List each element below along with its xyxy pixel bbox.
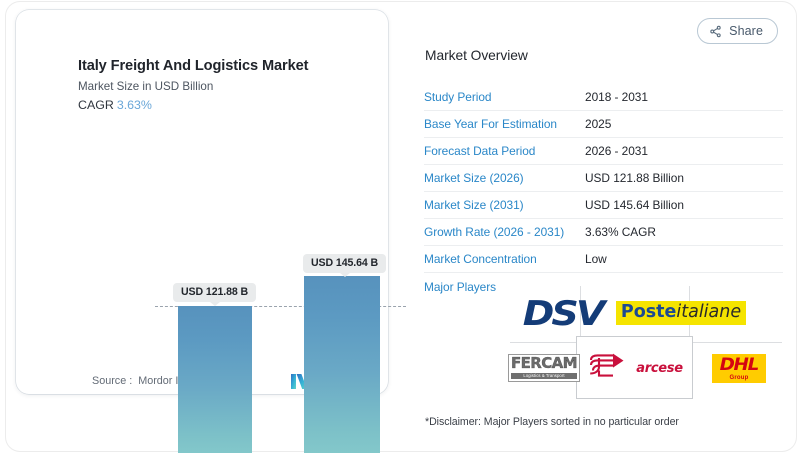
row-value-growth-rate: 3.63% CAGR (585, 225, 656, 239)
cagr-label: CAGR (78, 98, 114, 112)
dhl-logo-text: DHL (720, 357, 758, 374)
chart-subtitle: Market Size in USD Billion (78, 80, 213, 93)
table-row: Base Year For Estimation 2025 (424, 111, 783, 138)
table-row: Study Period 2018 - 2031 (424, 84, 783, 111)
poste-word-poste: Poste (621, 302, 677, 322)
table-row: Growth Rate (2026 - 2031) 3.63% CAGR (424, 219, 783, 246)
table-row: Market Size (2031) USD 145.64 Billion (424, 192, 783, 219)
row-key-market-concentration: Market Concentration (424, 252, 585, 266)
logo-dsv: DSV (508, 290, 618, 338)
row-key-study-period: Study Period (424, 90, 585, 104)
logo-fercam: FERCAM Logistics & Transport (508, 348, 580, 388)
share-icon (709, 25, 722, 38)
fercam-logo-text: FERCAM (511, 356, 577, 372)
row-value-market-concentration: Low (585, 252, 607, 266)
row-value-study-period: 2018 - 2031 (585, 90, 648, 104)
table-row: Forecast Data Period 2026 - 2031 (424, 138, 783, 165)
market-overview-table: Study Period 2018 - 2031 Base Year For E… (424, 84, 783, 300)
bar-value-label-2026: USD 121.88 B (173, 283, 256, 302)
fercam-tagline: Logistics & Transport (511, 373, 577, 379)
cagr-value: 3.63% (117, 98, 152, 112)
market-snapshot-page: Share Italy Freight And Logistics Market… (0, 0, 800, 453)
row-key-base-year: Base Year For Estimation (424, 117, 585, 131)
major-players-grid: DSV Posteitaliane FERCAM Logistics & Tra… (510, 286, 782, 399)
dhl-badge: DHL Group (712, 354, 766, 383)
bar-chart-plot: USD 121.88 B USD 145.64 B 2026 2031 (78, 128, 358, 344)
poste-italiane-badge: Posteitaliane (616, 301, 746, 325)
table-row: Market Concentration Low (424, 246, 783, 273)
logo-arcese: arcese (580, 348, 690, 388)
row-value-market-size-2026: USD 121.88 Billion (585, 171, 684, 185)
table-row: Market Size (2026) USD 121.88 Billion (424, 165, 783, 192)
row-key-growth-rate: Growth Rate (2026 - 2031) (424, 225, 585, 239)
row-key-market-size-2031: Market Size (2031) (424, 198, 585, 212)
logo-poste-italiane: Posteitaliane (622, 298, 740, 328)
cagr-line: CAGR3.63% (78, 98, 152, 112)
page-title: Italy Freight And Logistics Market (78, 58, 308, 74)
dsv-logo-text: DSV (523, 294, 603, 334)
arcese-logo-text: arcese (636, 361, 682, 376)
share-label: Share (729, 24, 763, 38)
row-key-market-size-2026: Market Size (2026) (424, 171, 585, 185)
market-overview-title: Market Overview (425, 48, 528, 63)
share-button[interactable]: Share (697, 18, 778, 44)
row-value-market-size-2031: USD 145.64 Billion (585, 198, 684, 212)
poste-word-italiane: italiane (676, 302, 741, 322)
bar-value-label-2031: USD 145.64 B (303, 254, 386, 273)
arcese-arrow-icon (587, 353, 631, 384)
row-value-base-year: 2025 (585, 117, 611, 131)
row-value-forecast-period: 2026 - 2031 (585, 144, 648, 158)
dhl-group-text: Group (721, 375, 757, 381)
bar-2026 (178, 306, 252, 453)
chart-card: Italy Freight And Logistics Market Marke… (16, 10, 388, 394)
bar-2031 (304, 276, 380, 453)
fercam-badge: FERCAM Logistics & Transport (508, 354, 580, 382)
logo-dhl: DHL Group (696, 350, 782, 386)
row-key-forecast-period: Forecast Data Period (424, 144, 585, 158)
disclaimer-text: *Disclaimer: Major Players sorted in no … (425, 416, 679, 428)
